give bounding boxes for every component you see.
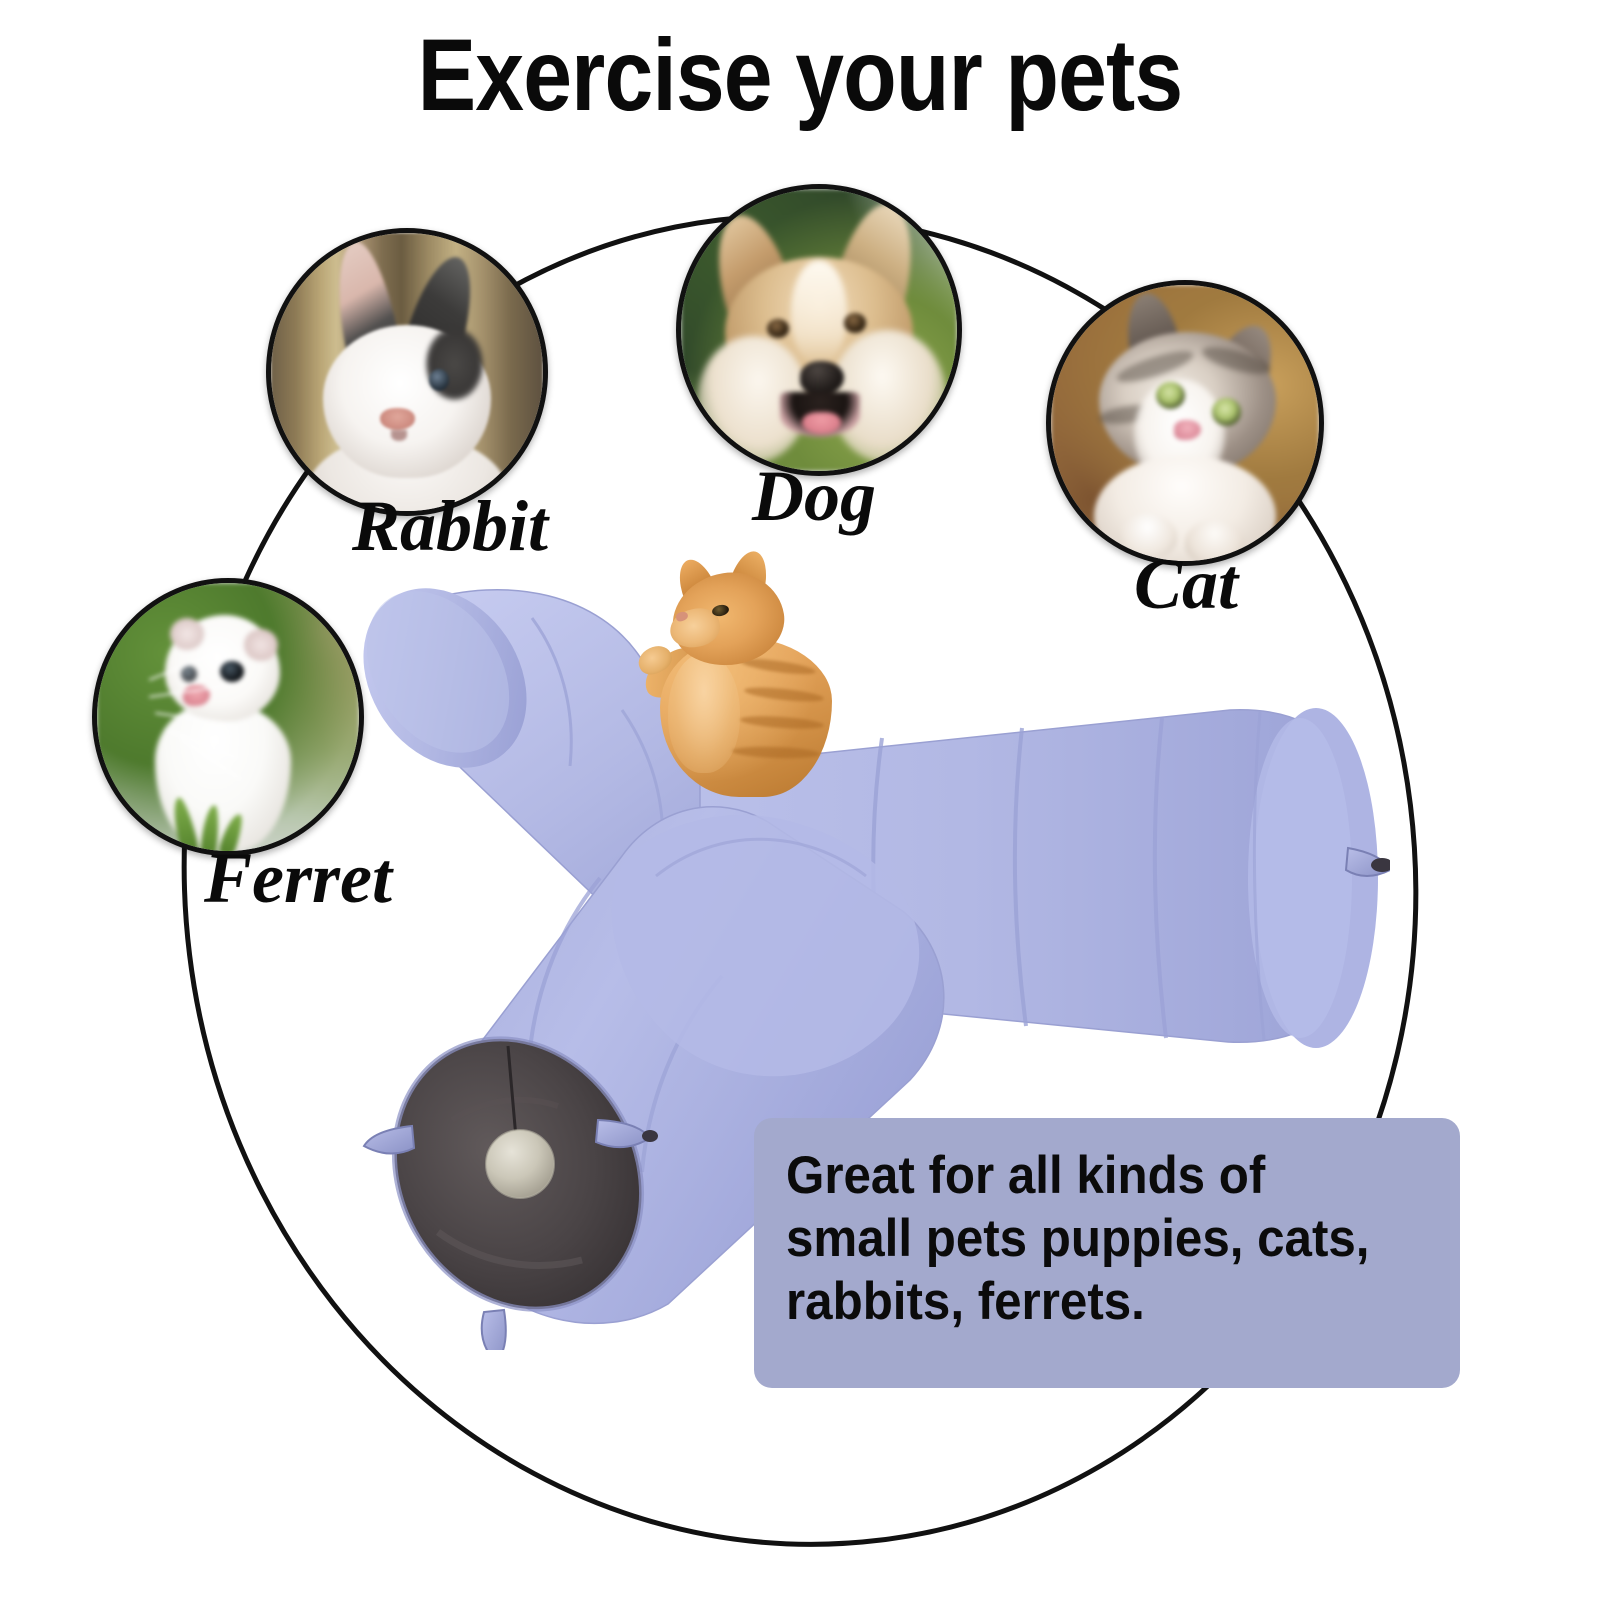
dog-photo: [681, 189, 957, 471]
pet-circle-cat[interactable]: [1046, 280, 1324, 566]
pet-label-dog: Dog: [752, 460, 876, 532]
pet-label-rabbit: Rabbit: [352, 490, 548, 562]
ferret-photo: [97, 583, 359, 851]
pet-circle-rabbit[interactable]: [266, 228, 548, 516]
pet-label-ferret: Ferret: [204, 842, 392, 914]
infographic-canvas: Exercise your pets: [0, 0, 1600, 1600]
pet-circle-dog[interactable]: [676, 184, 962, 476]
callout-box: Great for all kinds of small pets puppie…: [754, 1118, 1460, 1388]
pet-label-cat: Cat: [1134, 548, 1238, 620]
cat-photo: [1051, 285, 1319, 561]
callout-text: Great for all kinds of small pets puppie…: [786, 1144, 1387, 1333]
tunnel-cat-illustration: [620, 565, 840, 815]
pet-circle-ferret[interactable]: [92, 578, 364, 856]
rabbit-photo: [271, 233, 543, 511]
